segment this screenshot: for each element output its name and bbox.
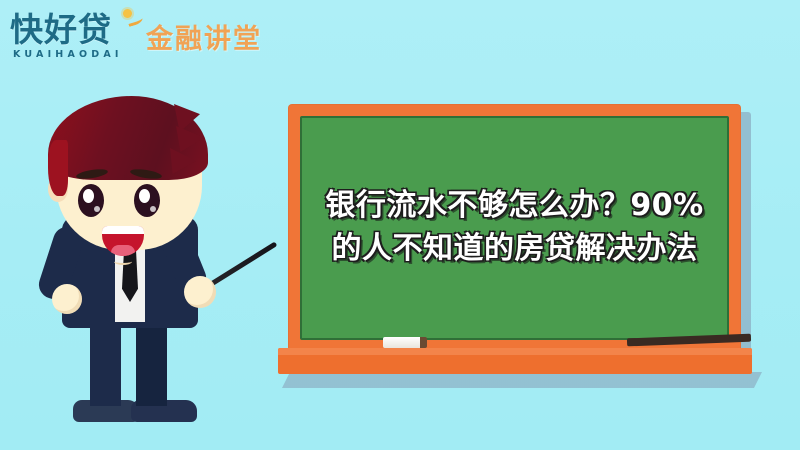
teeth	[102, 226, 144, 234]
chalk-eraser-edge	[420, 337, 427, 348]
blackboard-title-line-1: 银行流水不够怎么办？90%	[325, 185, 703, 228]
chin-line	[114, 258, 132, 265]
chalk-eraser-icon	[383, 337, 425, 348]
blackboard-title-line-2: 的人不知道的房贷解决办法	[332, 228, 698, 271]
eye-left	[78, 184, 104, 217]
brand-name-cn: 快好贷	[10, 12, 138, 48]
tongue	[111, 245, 135, 256]
blackboard-ledge-shadow	[282, 372, 762, 388]
eye-right	[134, 184, 160, 217]
logo-mark: 快好贷 KUAIHAODAI	[10, 12, 138, 60]
hand-right	[184, 276, 216, 308]
blackboard-surface: 银行流水不够怎么办？90% 的人不知道的房贷解决办法	[300, 116, 729, 340]
brand-name-pinyin: KUAIHAODAI	[10, 49, 138, 60]
blackboard-frame: 银行流水不够怎么办？90% 的人不知道的房贷解决办法	[288, 104, 741, 352]
hand-left	[52, 284, 82, 314]
logo-accent-dot-icon	[123, 9, 132, 18]
character-illustration	[18, 96, 293, 450]
brand-tagline: 金融讲堂	[146, 17, 262, 56]
ledge-highlight	[278, 348, 752, 355]
hair-sideburn	[48, 140, 68, 196]
blackboard-ledge	[278, 348, 752, 374]
slide-canvas: 快好贷 KUAIHAODAI 金融讲堂 银行流水不够怎么办？90% 的人不知道的…	[0, 0, 800, 450]
brand-logo: 快好贷 KUAIHAODAI 金融讲堂	[10, 12, 262, 60]
